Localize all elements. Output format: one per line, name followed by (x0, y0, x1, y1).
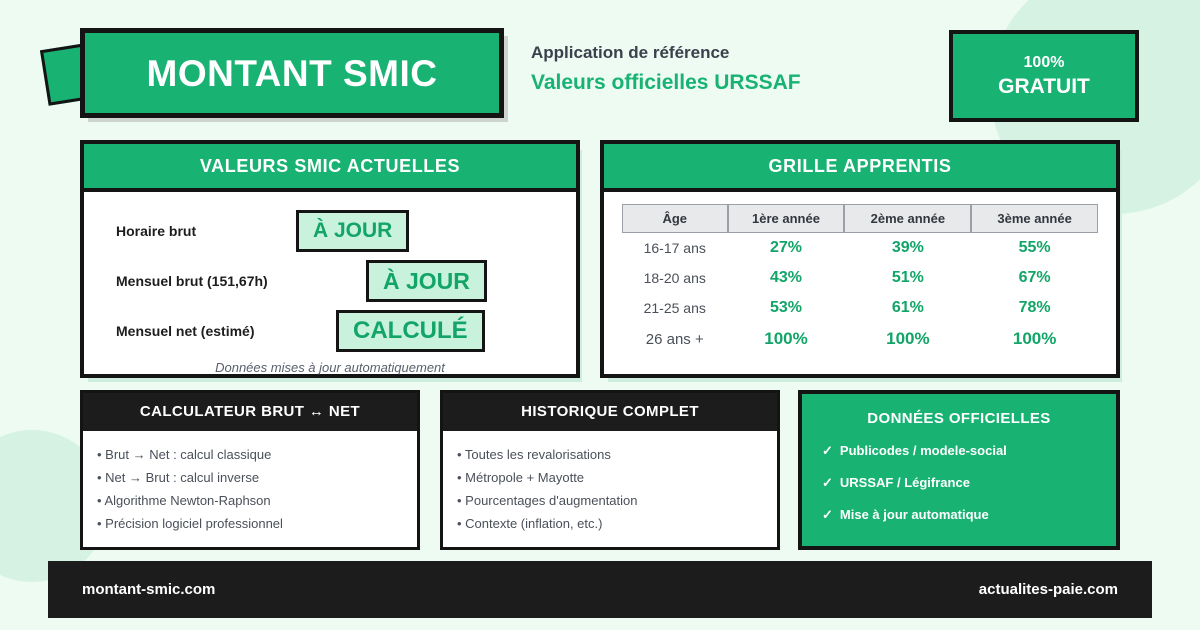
cell-year2: 100% (844, 323, 971, 355)
value-label: Horaire brut (116, 223, 276, 239)
list-item: • Toutes les revalorisations (457, 443, 763, 466)
apprentis-card: GRILLE APPRENTIS Âge 1ère année 2ème ann… (600, 140, 1120, 378)
footer-site-right: actualites-paie.com (979, 581, 1118, 598)
list-item: • Précision logiciel professionnel (97, 512, 403, 535)
header-subtitle-line2: Valeurs officielles URSSAF (531, 68, 801, 98)
cell-year2: 51% (844, 263, 971, 293)
calculator-card: CALCULATEUR BRUT ↔ NET • Brut → Net : ca… (80, 390, 420, 550)
cell-year3: 55% (971, 233, 1098, 263)
cell-year1: 53% (728, 293, 845, 323)
table-row: 18-20 ans 43% 51% 67% (622, 263, 1098, 293)
values-card-note: Données mises à jour automatiquement (84, 360, 576, 375)
history-card-heading: HISTORIQUE COMPLET (443, 393, 777, 431)
list-item: • Algorithme Newton-Raphson (97, 489, 403, 512)
calculator-card-heading: CALCULATEUR BRUT ↔ NET (83, 393, 417, 431)
list-item: • Brut → Net : calcul classique (97, 443, 403, 466)
cell-year1: 100% (728, 323, 845, 355)
values-card: VALEURS SMIC ACTUELLES Horaire brut À JO… (80, 140, 580, 378)
list-item: ✓Publicodes / modele-social (822, 443, 1116, 459)
cell-age: 21-25 ans (622, 293, 728, 323)
status-badge: À JOUR (366, 260, 487, 302)
status-badge: À JOUR (296, 210, 409, 252)
infographic-stage: MONTANT SMIC Application de référence Va… (0, 0, 1200, 630)
values-card-heading: VALEURS SMIC ACTUELLES (84, 144, 576, 192)
column-header-year2: 2ème année (844, 204, 971, 233)
check-icon: ✓ (822, 443, 833, 458)
apprentis-card-heading: GRILLE APPRENTIS (604, 144, 1116, 192)
list-item-label: Publicodes / modele-social (840, 443, 1007, 458)
cell-year1: 27% (728, 233, 845, 263)
list-item-label: URSSAF / Légifrance (840, 475, 970, 490)
page-title: MONTANT SMIC (147, 55, 438, 92)
list-item: ✓Mise à jour automatique (822, 507, 1116, 523)
official-data-card: DONNÉES OFFICIELLES ✓Publicodes / modele… (798, 390, 1120, 550)
value-row: Horaire brut À JOUR (84, 206, 576, 256)
list-item: ✓URSSAF / Légifrance (822, 475, 1116, 491)
footer-bar: montant-smic.com actualites-paie.com (48, 561, 1152, 618)
values-card-body: Horaire brut À JOUR Mensuel brut (151,67… (84, 192, 576, 392)
free-badge-percent: 100% (1024, 52, 1065, 74)
page-title-box: MONTANT SMIC (80, 28, 504, 118)
apprentis-table: Âge 1ère année 2ème année 3ème année 16-… (622, 204, 1098, 355)
cell-year3: 78% (971, 293, 1098, 323)
calculator-card-body: • Brut → Net : calcul classique • Net → … (83, 431, 417, 535)
history-card-body: • Toutes les revalorisations • Métropole… (443, 431, 777, 535)
list-item: • Net → Brut : calcul inverse (97, 466, 403, 489)
value-label: Mensuel brut (151,67h) (116, 273, 276, 289)
cell-year1: 43% (728, 263, 845, 293)
header-subtitle-line1: Application de référence (531, 40, 801, 65)
cell-year3: 67% (971, 263, 1098, 293)
cell-age: 16-17 ans (622, 233, 728, 263)
list-item: • Pourcentages d'augmentation (457, 489, 763, 512)
value-row: Mensuel net (estimé) CALCULÉ (84, 306, 576, 356)
list-item: • Métropole + Mayotte (457, 466, 763, 489)
list-item-label: Mise à jour automatique (840, 507, 989, 522)
header-subtitle-group: Application de référence Valeurs officie… (531, 40, 801, 98)
value-label: Mensuel net (estimé) (116, 323, 276, 339)
value-row: Mensuel brut (151,67h) À JOUR (84, 256, 576, 306)
cell-year2: 61% (844, 293, 971, 323)
history-card: HISTORIQUE COMPLET • Toutes les revalori… (440, 390, 780, 550)
free-badge: 100% GRATUIT (949, 30, 1139, 122)
cell-age: 26 ans + (622, 323, 728, 355)
list-item: • Contexte (inflation, etc.) (457, 512, 763, 535)
free-badge-label: GRATUIT (998, 74, 1090, 100)
column-header-year1: 1ère année (728, 204, 845, 233)
footer-site-left: montant-smic.com (82, 581, 215, 598)
cell-age: 18-20 ans (622, 263, 728, 293)
apprentis-card-body: Âge 1ère année 2ème année 3ème année 16-… (604, 192, 1116, 355)
table-row: 16-17 ans 27% 39% 55% (622, 233, 1098, 263)
table-header-row: Âge 1ère année 2ème année 3ème année (622, 204, 1098, 233)
column-header-age: Âge (622, 204, 728, 233)
cell-year2: 39% (844, 233, 971, 263)
status-badge: CALCULÉ (336, 310, 485, 352)
check-icon: ✓ (822, 507, 833, 522)
cell-year3: 100% (971, 323, 1098, 355)
check-icon: ✓ (822, 475, 833, 490)
table-row: 26 ans + 100% 100% 100% (622, 323, 1098, 355)
official-data-card-heading: DONNÉES OFFICIELLES (802, 410, 1116, 427)
table-row: 21-25 ans 53% 61% 78% (622, 293, 1098, 323)
column-header-year3: 3ème année (971, 204, 1098, 233)
